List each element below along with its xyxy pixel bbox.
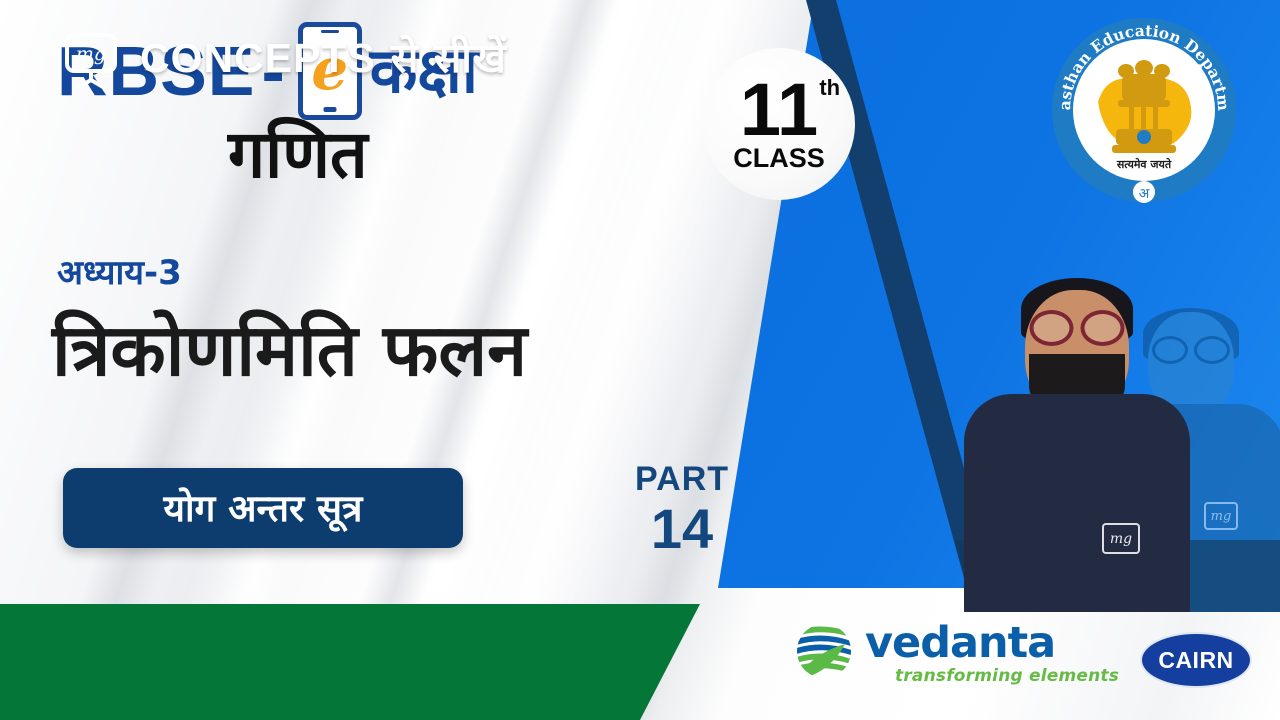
svg-text:अ: अ [1139,186,1150,202]
class-ordinal: th [819,78,840,98]
vedanta-globe-icon [795,622,853,680]
footer-green-banner [0,604,720,720]
sponsor-vedanta: vedanta transforming elements [795,622,1119,685]
instructor-front: mg [962,252,1192,612]
svg-text:mg: mg [76,43,106,65]
footer-tagline: CONCEPTS से सीखें [140,38,506,79]
subject-title: गणित [228,122,368,188]
footer-tagline-hi: से सीखें [391,34,507,82]
instructor-photos: mg mg [930,232,1280,612]
emblem-motto: सत्यमेव जयते [1116,157,1172,171]
part-indicator: PART 14 [617,462,747,558]
state-emblem-icon: सत्यमेव जयते Rajasthan Education Departm… [1046,12,1242,208]
class-badge: 11th CLASS [703,48,855,200]
topic-badge: योग अन्तर सूत्र [63,468,463,548]
thumbnail-canvas: RBSE - e कक्षा गणित 11th CLASS [0,0,1280,720]
rajasthan-education-department-emblem: सत्यमेव जयते Rajasthan Education Departm… [1046,12,1242,208]
part-number: 14 [617,500,747,559]
sponsor-cairn: CAIRN [1140,632,1252,688]
part-label: PART [617,462,747,498]
mg-whiteboard-icon: mg [60,27,122,89]
class-number: 11th [740,76,818,144]
sponsor-cairn-name: CAIRN [1158,647,1233,674]
sponsor-vedanta-tagline: transforming elements [895,668,1119,685]
topic-label: योग अन्तर सूत्र [164,490,363,527]
footer-tagline-en: CONCEPTS [140,35,376,81]
footer-content: mg CONCEPTS से सीखें [0,0,506,116]
sponsor-vedanta-name: vedanta [865,622,1119,665]
chapter-title: त्रिकोणमिति फलन [52,314,527,386]
class-number-value: 11 [740,68,818,151]
chapter-number: अध्याय-3 [57,256,182,290]
